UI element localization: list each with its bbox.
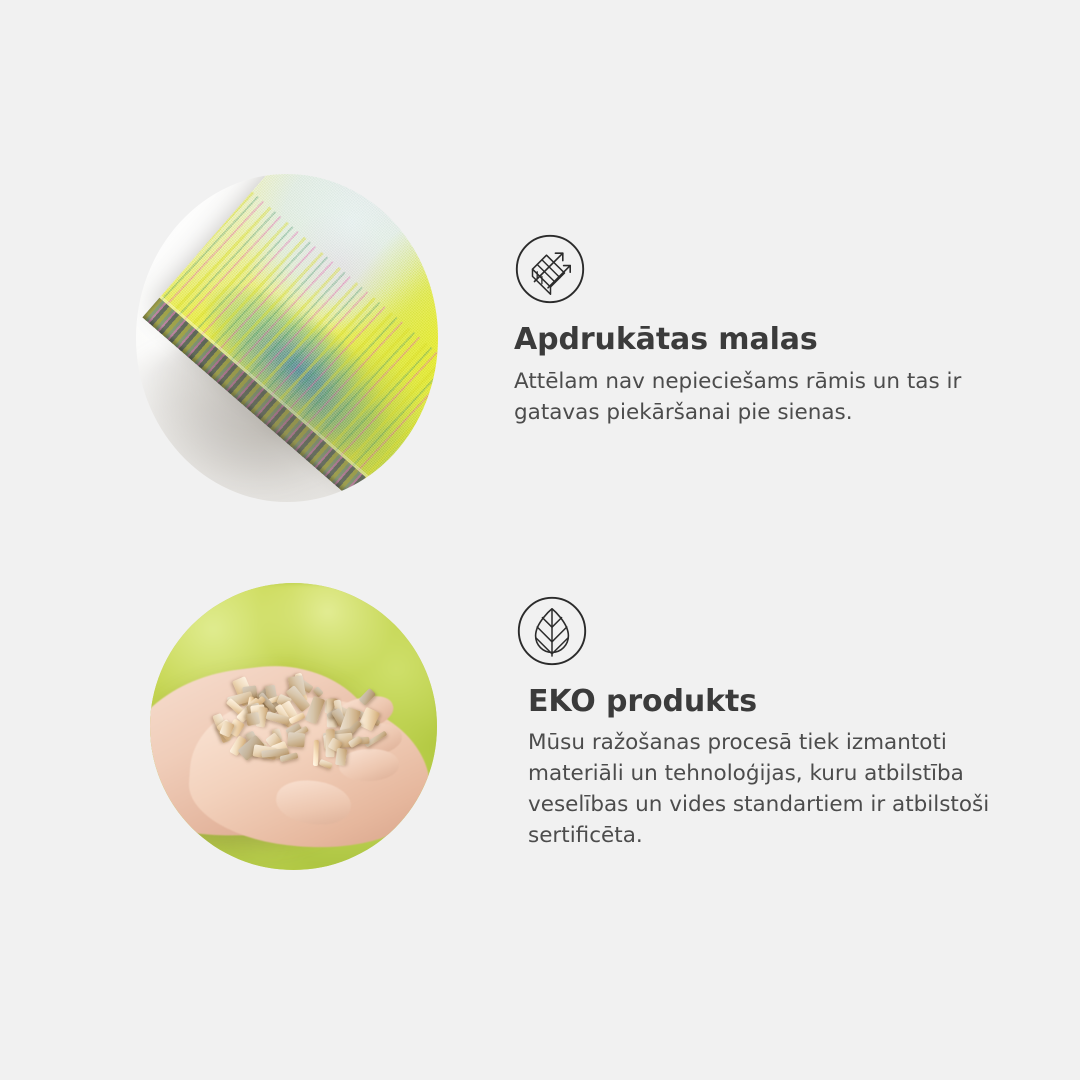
wood-chip: [287, 732, 305, 748]
printed-edges-icon: [515, 234, 585, 304]
wood-chip: [359, 688, 376, 705]
hands-wood-chips-photo: [150, 583, 437, 870]
canvas-corner-photo: [136, 174, 438, 502]
wood-chip: [245, 712, 260, 726]
feature-title-printed-edges: Apdrukātas malas: [514, 322, 818, 357]
wood-chip: [305, 695, 326, 724]
wood-chip: [335, 748, 347, 766]
promo-page: Apdrukātas malas Attēlam nav nepieciešam…: [0, 0, 1080, 1080]
feature-description-eko-product: Mūsu ražošanas procesā tiek izmantoti ma…: [528, 727, 1008, 851]
feature-title-eko-product: EKO produkts: [528, 684, 757, 719]
feature-description-printed-edges: Attēlam nav nepieciešams rāmis un tas ir…: [514, 366, 1014, 428]
wood-chip: [319, 759, 333, 769]
leaf-icon: [517, 596, 587, 666]
wall-vignette: [136, 174, 438, 502]
wood-chips-pile: [216, 669, 385, 784]
